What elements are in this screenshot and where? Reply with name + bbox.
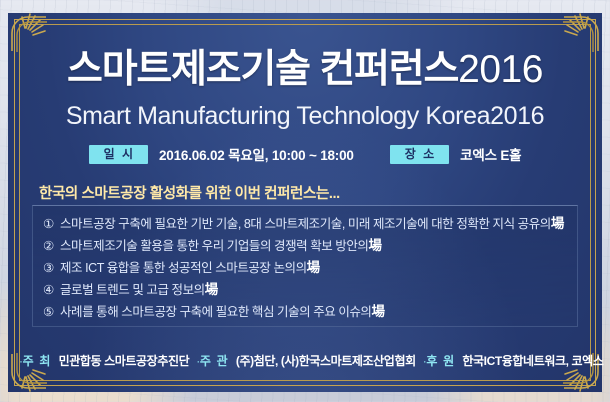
bullet-suffix: 場 <box>551 216 564 231</box>
bullet-number: ④ <box>43 279 60 301</box>
bullet-number: ① <box>43 213 60 235</box>
venue-label-badge: 장 소 <box>390 145 449 164</box>
host-label: 주 최 <box>23 354 52 368</box>
host-value: 민관합동 스마트공장추진단 <box>59 354 190 368</box>
bullet-panel: ①스마트공장 구축에 필요한 기반 기술, 8대 스마트제조기술, 미래 제조기… <box>32 205 578 327</box>
footer-credits: ·주 최민관합동 스마트공장추진단·주 관(주)첨단, (사)한국스마트제조산업… <box>19 352 591 369</box>
list-item: ④글로벌 트렌드 및 고급 정보의場 <box>43 279 567 301</box>
title-korean-main: 스마트제조기술 컨퍼런스 <box>67 48 458 91</box>
bullet-text: 사례를 통해 스마트공장 구축에 필요한 핵심 기술의 주요 이슈의 <box>60 305 372 319</box>
list-item: ②스마트제조기술 활용을 통한 우리 기업들의 경쟁력 확보 방안의場 <box>43 235 567 257</box>
list-item: ③제조 ICT 융합을 통한 성공적인 스마트공장 논의의場 <box>43 257 567 279</box>
venue-value: 코엑스 E홀 <box>460 144 521 164</box>
bullet-text: 제조 ICT 융합을 통한 성공적인 스마트공장 논의의 <box>60 261 307 275</box>
event-info-bar: 일 시 2016.06.02 목요일, 10:00 ~ 18:00 장 소 코엑… <box>19 144 591 164</box>
title-korean-year: 2016 <box>458 48 543 91</box>
bullet-suffix: 場 <box>368 238 381 253</box>
organizer-label: 주 관 <box>200 354 229 368</box>
intro-text: 한국의 스마트공장 활성화를 위한 이번 컨퍼런스는... <box>39 182 340 203</box>
sponsor-value: 한국ICT융합네트워크, 코엑스 <box>462 354 603 368</box>
bullet-number: ③ <box>43 257 60 279</box>
bullet-text: 스마트제조기술 활용을 통한 우리 기업들의 경쟁력 확보 방안의 <box>60 239 368 253</box>
date-label-badge: 일 시 <box>89 145 148 164</box>
poster-content: 스마트제조기술 컨퍼런스2016 Smart Manufacturing Tec… <box>19 24 591 381</box>
list-item: ⑤사례를 통해 스마트공장 구축에 필요한 핵심 기술의 주요 이슈의場 <box>43 301 567 323</box>
organizer-value: (주)첨단, (사)한국스마트제조산업협회 <box>236 354 416 368</box>
list-item: ①스마트공장 구축에 필요한 기반 기술, 8대 스마트제조기술, 미래 제조기… <box>43 213 567 235</box>
title-english: Smart Manufacturing Technology Korea2016 <box>19 104 591 129</box>
conference-poster: 스마트제조기술 컨퍼런스2016 Smart Manufacturing Tec… <box>0 0 610 402</box>
bullet-text: 스마트공장 구축에 필요한 기반 기술, 8대 스마트제조기술, 미래 제조기술… <box>60 217 551 231</box>
bullet-number: ② <box>43 235 60 257</box>
bullet-suffix: 場 <box>205 282 218 297</box>
bullet-number: ⑤ <box>43 301 60 323</box>
page-title: 스마트제조기술 컨퍼런스2016 <box>19 50 591 89</box>
bullet-suffix: 場 <box>307 260 320 275</box>
bullet-suffix: 場 <box>372 304 385 319</box>
date-value: 2016.06.02 목요일, 10:00 ~ 18:00 <box>159 144 354 164</box>
bullet-text: 글로벌 트렌드 및 고급 정보의 <box>60 283 205 297</box>
sponsor-label: 후 원 <box>426 354 455 368</box>
